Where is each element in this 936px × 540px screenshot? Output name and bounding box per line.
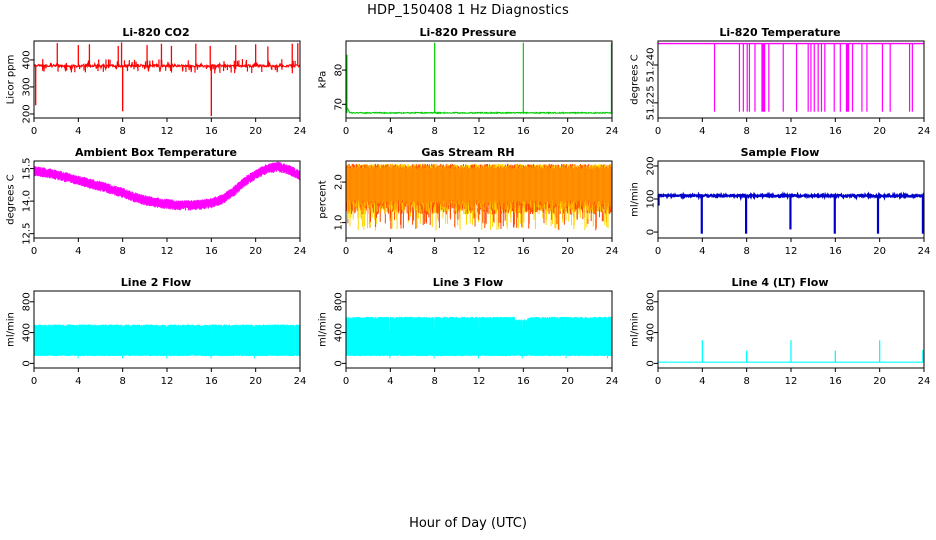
panel-title: Line 3 Flow [312,276,624,289]
data-dropout [743,44,744,112]
x-tick-label: 4 [387,246,393,257]
x-tick-label: 8 [431,376,437,387]
data-dropout [882,44,883,112]
x-tick-label: 4 [387,126,393,137]
x-tick-label: 20 [561,376,574,387]
x-tick-label: 4 [699,126,705,137]
data-dropout [814,44,815,112]
x-tick-label: 20 [249,246,262,257]
data-dropout [861,44,862,112]
y-tick-label: 300 [22,77,33,96]
panel-title: Li-820 CO2 [0,26,312,39]
data-dropout [890,44,891,112]
data-dropout [747,44,748,112]
x-tick-label: 20 [561,126,574,137]
x-tick-label: 24 [294,126,307,137]
x-tick-label: 12 [785,376,798,387]
y-tick-label: 1.0 [334,215,345,231]
x-tick-label: 8 [431,246,437,257]
data-dropout [796,44,797,112]
y-tick-label: 80 [334,64,345,77]
plot-area-licor-pressure: 048121620247080kPa [312,26,624,146]
y-axis-label: degrees C [630,54,641,104]
y-tick-label: 15.5 [22,157,33,179]
x-tick-label: 16 [829,376,842,387]
x-tick-label: 4 [75,126,81,137]
x-tick-label: 4 [699,246,705,257]
plot-area-line-3-flow: 048121620240400800ml/min [312,276,624,396]
x-tick-label: 0 [31,246,37,257]
y-tick-label: 400 [22,323,33,342]
panel-licor-pressure: Li-820 Pressure048121620247080kPa [312,26,624,146]
panel-ambient-box-temperature: Ambient Box Temperature0481216202412.514… [0,146,312,266]
data-dropout [834,44,835,112]
x-tick-label: 24 [294,376,307,387]
plot-area-sample-flow: 048121620240100200ml/min [624,146,936,266]
series-group [34,325,300,359]
panel-title: Ambient Box Temperature [0,146,312,159]
y-axis-label: ml/min [318,312,329,347]
x-tick-label: 12 [785,246,798,257]
x-tick-label: 12 [473,126,486,137]
y-tick-label: 400 [22,50,33,69]
x-tick-label: 0 [343,376,349,387]
x-tick-label: 8 [119,376,125,387]
x-tick-label: 8 [119,246,125,257]
y-tick-label: 12.5 [22,223,33,245]
y-axis-label: degrees C [6,174,17,224]
x-tick-label: 24 [606,126,619,137]
plot-area-licor-co2: 04812162024200300400Licor ppm [0,26,312,146]
panel-line-4-lt-flow: Line 4 (LT) Flow048121620240400800ml/min [624,276,936,396]
x-tick-label: 20 [873,126,886,137]
x-tick-label: 24 [918,376,931,387]
data-dropout [866,44,867,112]
series-group [658,340,924,362]
x-tick-label: 20 [873,376,886,387]
data-dropout [824,44,825,112]
series-group [658,195,924,234]
data-dropout [739,44,740,112]
x-tick-label: 24 [606,246,619,257]
plot-area-line-2-flow: 048121620240400800ml/min [0,276,312,396]
x-tick-label: 24 [918,126,931,137]
x-tick-label: 12 [473,246,486,257]
panel-line-2-flow: Line 2 Flow048121620240400800ml/min [0,276,312,396]
x-tick-label: 12 [161,376,174,387]
x-tick-label: 4 [387,376,393,387]
y-tick-label: 200 [646,156,657,175]
x-tick-label: 4 [75,246,81,257]
plot-area-ambient-box-temperature: 0481216202412.514.015.5degrees C [0,146,312,266]
x-tick-label: 20 [249,126,262,137]
y-axis-label: Licor ppm [6,55,17,105]
y-tick-label: 100 [646,189,657,208]
y-tick-label: 0 [22,360,33,366]
panel-sample-flow: Sample Flow048121620240100200ml/min [624,146,936,266]
x-tick-label: 4 [699,376,705,387]
plot-frame [346,41,612,118]
diagnostics-figure: HDP_150408 1 Hz Diagnostics Li-820 CO204… [0,0,936,540]
series-group [346,43,612,114]
x-tick-label: 24 [606,376,619,387]
y-tick-label: 800 [334,292,345,311]
data-dropout [912,44,913,112]
data-series [346,106,612,114]
x-tick-label: 0 [31,126,37,137]
x-tick-label: 16 [205,246,218,257]
x-tick-label: 0 [655,126,661,137]
y-axis-label: ml/min [6,312,17,347]
panel-title: Li-820 Pressure [312,26,624,39]
panel-title: Li-820 Temperature [624,26,936,39]
y-tick-label: 800 [646,292,657,311]
data-dropout [714,44,715,112]
data-series [34,62,300,73]
x-tick-label: 0 [655,246,661,257]
x-tick-label: 20 [873,246,886,257]
panel-licor-temperature: Li-820 Temperature0481216202451.22551.24… [624,26,936,146]
x-tick-label: 8 [743,246,749,257]
y-axis-label: ml/min [630,312,641,347]
data-dropout [909,44,910,112]
x-tick-label: 12 [785,126,798,137]
x-tick-label: 16 [517,376,530,387]
x-tick-label: 4 [75,376,81,387]
plot-frame [34,41,300,118]
global-x-axis-label: Hour of Day (UTC) [0,516,936,531]
panel-title: Line 4 (LT) Flow [624,276,936,289]
y-tick-label: 0 [646,229,657,235]
panel-gas-stream-rh: Gas Stream RH048121620241.02.0percent [312,146,624,266]
y-tick-label: 400 [646,323,657,342]
x-tick-label: 12 [161,246,174,257]
x-tick-label: 16 [829,246,842,257]
x-tick-label: 20 [561,246,574,257]
series-group [34,162,300,211]
x-tick-label: 16 [829,126,842,137]
y-axis-label: percent [318,180,329,218]
data-dropout [761,44,765,112]
y-axis-label: kPa [318,71,329,89]
y-tick-label: 200 [22,104,33,123]
data-dropout [818,44,819,112]
data-dropout [840,44,841,112]
series-group [658,44,924,112]
y-tick-label: 2.0 [334,174,345,190]
x-tick-label: 8 [119,126,125,137]
panel-line-3-flow: Line 3 Flow048121620240400800ml/min [312,276,624,396]
figure-title: HDP_150408 1 Hz Diagnostics [0,3,936,18]
x-tick-label: 24 [294,246,307,257]
panel-title: Gas Stream RH [312,146,624,159]
y-tick-label: 0 [334,360,345,366]
x-tick-label: 0 [343,246,349,257]
x-tick-label: 16 [205,376,218,387]
series-group [34,42,300,116]
data-dropout [768,44,769,112]
data-dropout [821,44,822,112]
y-tick-label: 51.225 [646,85,657,120]
plot-area-gas-stream-rh: 048121620241.02.0percent [312,146,624,266]
x-tick-label: 0 [31,376,37,387]
data-dropout [808,44,809,112]
plot-frame [658,41,924,118]
panel-title: Sample Flow [624,146,936,159]
x-tick-label: 20 [249,376,262,387]
y-tick-label: 70 [334,98,345,111]
x-tick-label: 0 [343,126,349,137]
x-tick-label: 12 [161,126,174,137]
y-tick-label: 51.240 [646,47,657,82]
plot-area-licor-temperature: 0481216202451.22551.240degrees C [624,26,936,146]
data-dropout [749,44,750,112]
y-tick-label: 0 [646,360,657,366]
y-axis-label: ml/min [630,182,641,217]
y-tick-label: 400 [334,323,345,342]
x-tick-label: 16 [517,126,530,137]
data-dropout [852,44,853,112]
panel-licor-co2: Li-820 CO204812162024200300400Licor ppm [0,26,312,146]
x-tick-label: 8 [743,376,749,387]
plot-area-line-4-lt-flow: 048121620240400800ml/min [624,276,936,396]
data-dropout [783,44,784,112]
series-group [346,317,612,359]
x-tick-label: 0 [655,376,661,387]
x-tick-label: 8 [431,126,437,137]
y-tick-label: 14.0 [22,190,33,212]
data-dropout [810,44,811,112]
x-tick-label: 16 [517,246,530,257]
panel-title: Line 2 Flow [0,276,312,289]
series-group [346,164,612,231]
x-tick-label: 24 [918,246,931,257]
x-tick-label: 12 [473,376,486,387]
x-tick-label: 8 [743,126,749,137]
y-tick-label: 800 [22,292,33,311]
x-tick-label: 16 [205,126,218,137]
data-dropout [846,44,849,112]
data-dropout [754,44,755,112]
